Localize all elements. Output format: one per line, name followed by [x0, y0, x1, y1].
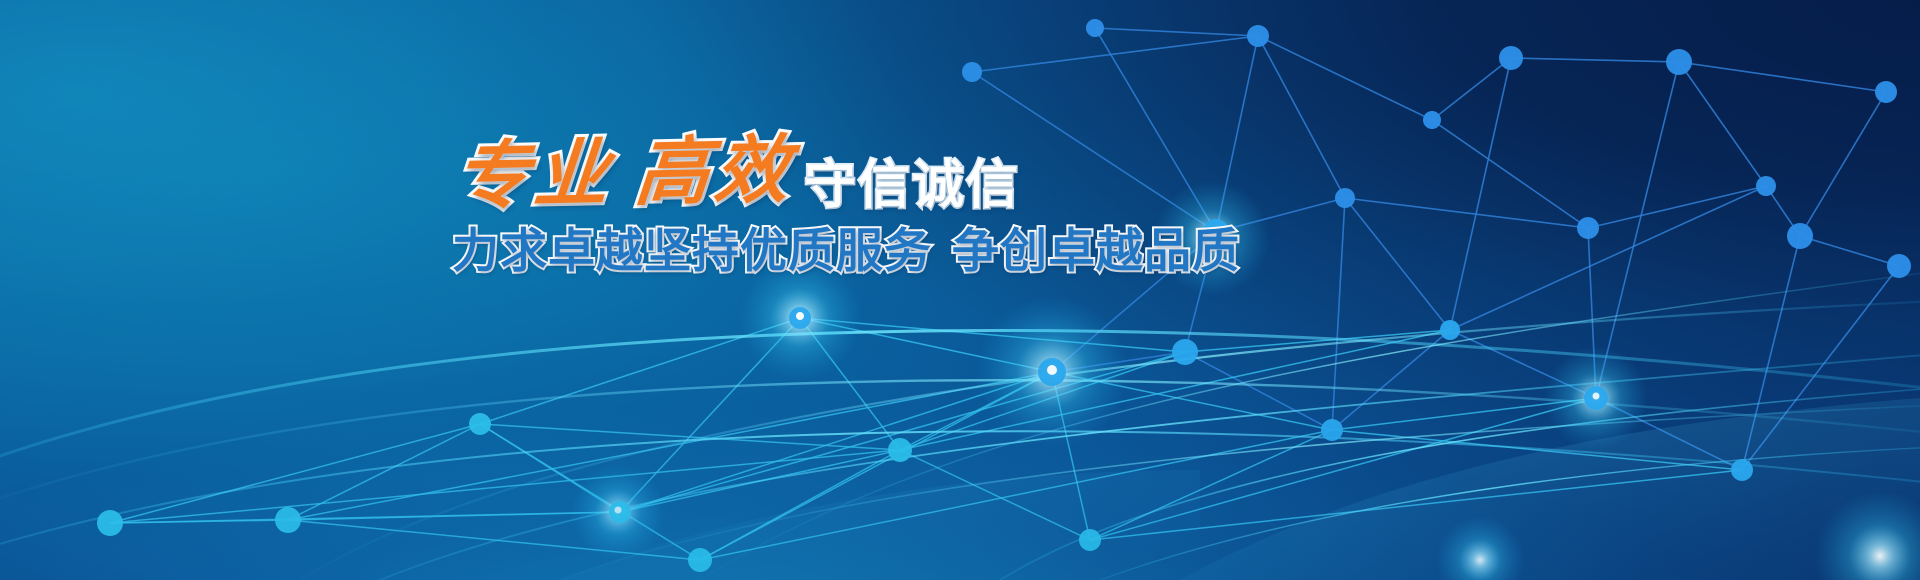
promotional-banner: 专业高效 守信诚信 力求卓越坚持优质服务争创卓越品质	[0, 0, 1920, 580]
background-vignette	[0, 0, 1920, 580]
